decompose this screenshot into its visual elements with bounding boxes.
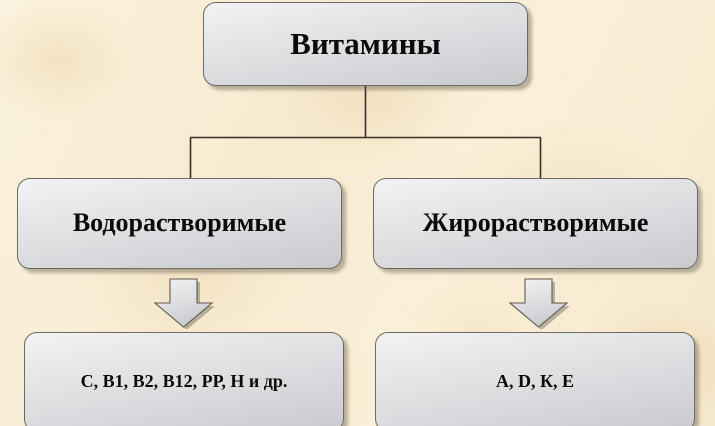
node-water-soluble[interactable]: Водорастворимые bbox=[17, 178, 342, 269]
node-fat-soluble-members[interactable]: А, D, К, Е bbox=[375, 332, 695, 426]
down-block-arrow-icon-water-soluble bbox=[152, 277, 215, 329]
down-block-arrow-icon-fat-soluble bbox=[507, 277, 570, 329]
node-fat-soluble[interactable]: Жирорастворимые bbox=[373, 178, 698, 269]
node-fat-soluble-members-label: А, D, К, Е bbox=[496, 372, 574, 392]
node-fat-soluble-label: Жирорастворимые bbox=[423, 209, 649, 238]
node-water-soluble-label: Водорастворимые bbox=[73, 209, 286, 238]
slide-background: Витамины Водорастворимые Жирорастворимые bbox=[0, 0, 715, 426]
node-vitamins-root-label: Витамины bbox=[290, 27, 441, 61]
node-water-soluble-members-label: С, В1, В2, В12, РР, Н и др. bbox=[81, 372, 288, 392]
node-water-soluble-members[interactable]: С, В1, В2, В12, РР, Н и др. bbox=[24, 332, 344, 426]
node-vitamins-root[interactable]: Витамины bbox=[203, 2, 528, 86]
